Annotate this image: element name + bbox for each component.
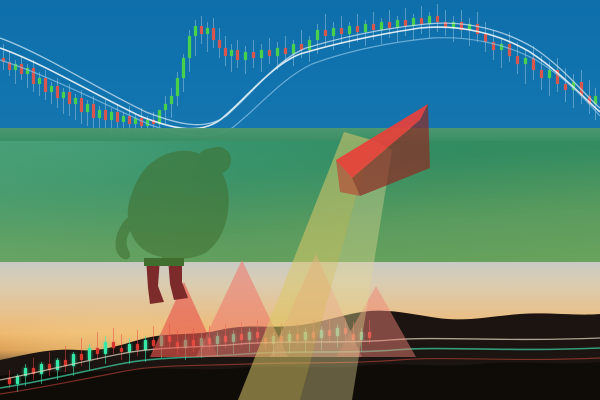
middle-green-title-band: 天津配资大本营 东晋得以偏安江南并拥有百年基业，到底是什么原因？ bbox=[0, 141, 600, 262]
thumbnail-image: 天津配资大本营 东晋得以偏安江南并拥有百年基业，到底是什么原因？ bbox=[0, 0, 600, 400]
top-moving-average-lines bbox=[0, 0, 600, 141]
bull-legs-graphic bbox=[138, 258, 196, 310]
green-band-tint bbox=[0, 141, 600, 262]
top-sky-chart-band bbox=[0, 0, 600, 141]
bull-silhouette-icon bbox=[96, 141, 246, 262]
top-band-green-floor bbox=[0, 128, 600, 141]
